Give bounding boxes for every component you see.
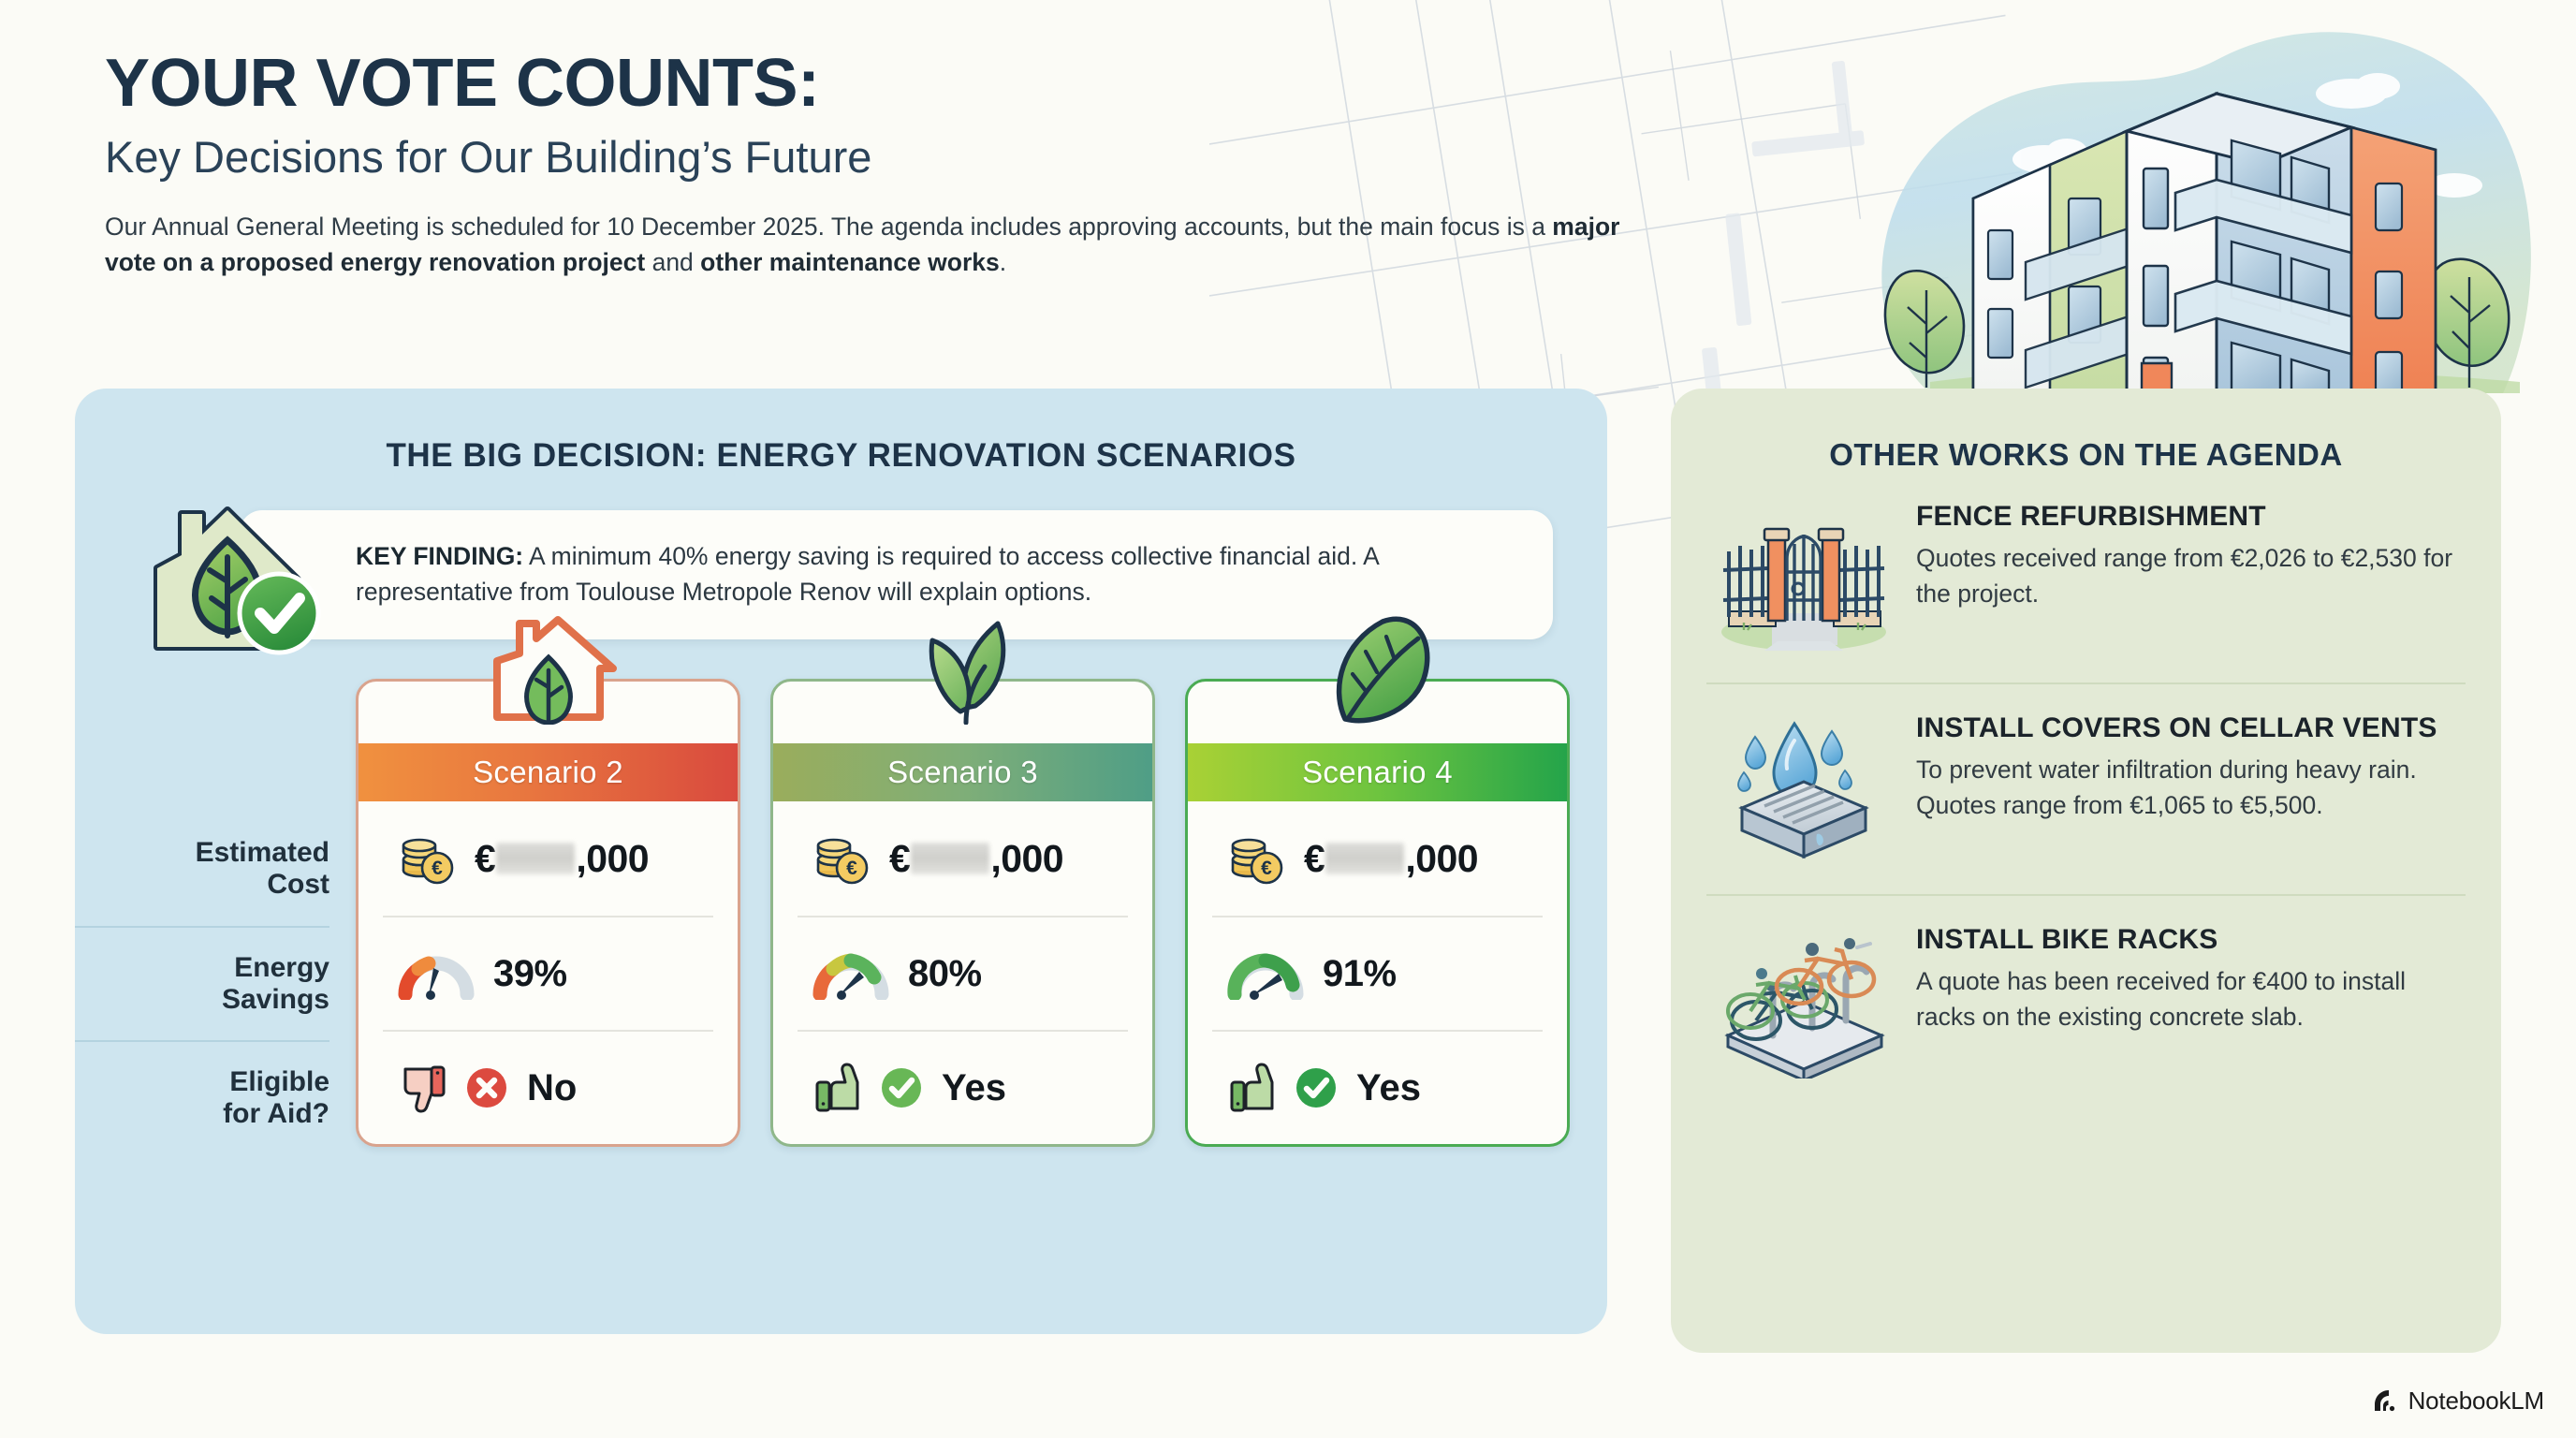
fence-gate-icon	[1712, 497, 1895, 658]
row-label-cost-line1: Estimated	[75, 837, 329, 870]
cross-badge-icon	[465, 1066, 508, 1109]
scenario-4-energy-value: 91%	[1323, 953, 1397, 995]
scenario-cards: Scenario 2	[356, 656, 1570, 1147]
scenario-2-cost-value: €,000	[475, 837, 649, 881]
scenario-4-cost-redacted	[1325, 843, 1404, 874]
intro-text-part2: and	[645, 248, 700, 276]
scenario-2-cost-redacted	[496, 843, 575, 874]
work-item-bike-racks[interactable]: INSTALL BIKE RACKS A quote has been rece…	[1706, 894, 2466, 1106]
work-desc-bike-racks: A quote has been received for €400 to in…	[1916, 964, 2460, 1034]
gauge-icon-high	[1227, 947, 1304, 1000]
left-panel-title: THE BIG DECISION: ENERGY RENOVATION SCEN…	[75, 437, 1607, 475]
scenario-4-energy-cell: 91%	[1212, 916, 1543, 1030]
eco-house-check-icon	[135, 490, 331, 664]
key-finding-text: KEY FINDING: A minimum 40% energy saving…	[356, 538, 1514, 609]
scenario-3-cost-cell: € €,000	[798, 801, 1128, 916]
scenario-3-cost-redacted	[911, 843, 989, 874]
coins-icon: €	[398, 829, 456, 888]
key-finding-label: KEY FINDING:	[356, 542, 523, 570]
scenario-2-energy-cell: 39%	[383, 916, 713, 1030]
scenario-4-eligible-cell: Yes	[1212, 1030, 1543, 1144]
apartment-building-illustration	[1696, 0, 2576, 393]
svg-text:€: €	[846, 858, 857, 879]
row-label-energy-savings: Energy Savings	[75, 926, 329, 1040]
scenario-3-cost-value: €,000	[889, 837, 1063, 881]
work-item-fence[interactable]: FENCE REFURBISHMENT Quotes received rang…	[1706, 473, 2466, 682]
watermark-label: NotebookLM	[2408, 1387, 2544, 1416]
notebooklm-watermark: NotebookLM	[2371, 1387, 2544, 1416]
svg-text:€: €	[432, 858, 443, 879]
work-title-cellar-vents: INSTALL COVERS ON CELLAR VENTS	[1916, 712, 2460, 744]
work-title-bike-racks: INSTALL BIKE RACKS	[1916, 924, 2460, 956]
row-label-eligible-line2: for Aid?	[75, 1098, 329, 1131]
thumbs-down-icon	[398, 1062, 446, 1114]
scenario-3-eligible-cell: Yes	[798, 1030, 1128, 1144]
scenario-card-2[interactable]: Scenario 2	[356, 679, 740, 1147]
row-label-energy-line2: Savings	[75, 984, 329, 1017]
scenario-2-cost-suffix: ,000	[576, 837, 649, 881]
scenario-row-labels: Estimated Cost Energy Savings Eligible f…	[75, 656, 356, 1154]
coins-icon: €	[812, 829, 871, 888]
key-finding-box: KEY FINDING: A minimum 40% energy saving…	[240, 510, 1553, 639]
scenario-4-header: Scenario 4	[1188, 743, 1567, 801]
scenario-2-cost-cell: € €,000	[383, 801, 713, 916]
scenario-3-header: Scenario 3	[773, 743, 1152, 801]
check-badge-icon	[1295, 1066, 1338, 1109]
scenario-3-cost-suffix: ,000	[990, 837, 1063, 881]
work-item-cellar-vents[interactable]: INSTALL COVERS ON CELLAR VENTS To preven…	[1706, 682, 2466, 894]
svg-text:€: €	[1261, 858, 1272, 879]
scenario-2-eligible-value: No	[527, 1067, 577, 1109]
row-label-cost-line2: Cost	[75, 869, 329, 902]
intro-text-part3: .	[1000, 248, 1006, 276]
row-label-eligible-line1: Eligible	[75, 1066, 329, 1099]
intro-paragraph: Our Annual General Meeting is scheduled …	[105, 210, 1677, 280]
scenario-card-4[interactable]: Scenario 4	[1185, 679, 1570, 1147]
thumbs-up-icon	[1227, 1062, 1276, 1114]
page-header: YOUR VOTE COUNTS: Key Decisions for Our …	[105, 49, 1677, 280]
work-desc-cellar-vents: To prevent water infiltration during hea…	[1916, 753, 2460, 823]
scenario-3-energy-cell: 80%	[798, 916, 1128, 1030]
work-title-fence: FENCE REFURBISHMENT	[1916, 501, 2460, 533]
intro-bold-other-works: other maintenance works	[700, 248, 1000, 276]
row-label-estimated-cost: Estimated Cost	[75, 812, 329, 926]
scenario-4-eligible-value: Yes	[1356, 1067, 1421, 1109]
thumbs-up-icon	[812, 1062, 861, 1114]
scenario-3-energy-value: 80%	[908, 953, 982, 995]
intro-text-part1: Our Annual General Meeting is scheduled …	[105, 213, 1552, 241]
scenario-2-header: Scenario 2	[359, 743, 738, 801]
coins-icon: €	[1227, 829, 1285, 888]
water-drop-vent-icon	[1712, 709, 1895, 870]
row-label-eligible-for-aid: Eligible for Aid?	[75, 1040, 329, 1154]
scenarios-comparison-table: Estimated Cost Energy Savings Eligible f…	[75, 656, 1607, 1154]
work-desc-fence: Quotes received range from €2,026 to €2,…	[1916, 541, 2460, 611]
bike-rack-icon	[1712, 920, 1895, 1081]
scenario-4-cost-currency: €	[1304, 837, 1325, 881]
key-finding-callout: KEY FINDING: A minimum 40% energy saving…	[135, 510, 1553, 639]
scenario-3-cost-currency: €	[889, 837, 910, 881]
energy-renovation-panel: THE BIG DECISION: ENERGY RENOVATION SCEN…	[75, 389, 1607, 1334]
scenario-4-cost-suffix: ,000	[1405, 837, 1478, 881]
scenario-2-energy-value: 39%	[493, 953, 567, 995]
page-subtitle: Key Decisions for Our Building’s Future	[105, 133, 1677, 183]
page-title: YOUR VOTE COUNTS:	[105, 49, 1677, 120]
gauge-icon-low	[398, 947, 475, 1000]
check-badge-icon	[880, 1066, 923, 1109]
scenario-card-3[interactable]: Scenario 3	[770, 679, 1155, 1147]
scenario-3-eligible-value: Yes	[942, 1067, 1006, 1109]
scenario-2-eligible-cell: No	[383, 1030, 713, 1144]
scenario-4-cost-value: €,000	[1304, 837, 1478, 881]
gauge-icon-mid	[812, 947, 889, 1000]
scenario-4-cost-cell: € €,000	[1212, 801, 1543, 916]
row-label-energy-line1: Energy	[75, 952, 329, 985]
notebooklm-logo-icon	[2371, 1387, 2399, 1416]
right-panel-title: OTHER WORKS ON THE AGENDA	[1706, 437, 2466, 473]
scenario-2-cost-currency: €	[475, 837, 495, 881]
other-works-panel: OTHER WORKS ON THE AGENDA	[1671, 389, 2501, 1353]
